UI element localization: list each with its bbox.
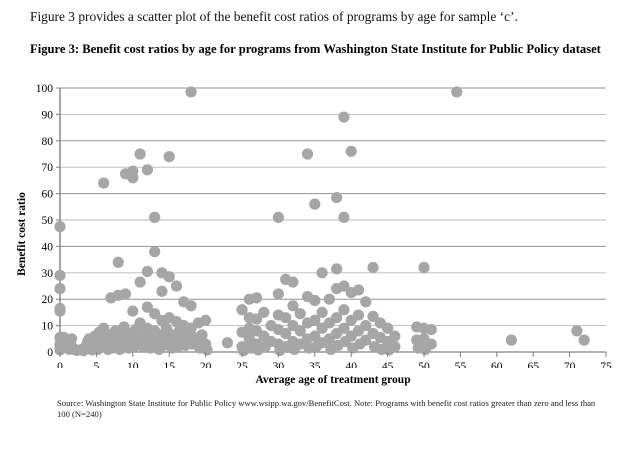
data-point xyxy=(360,296,371,307)
data-point xyxy=(98,177,109,188)
data-point xyxy=(54,270,65,281)
x-tick-label: 60 xyxy=(491,361,503,368)
data-point xyxy=(156,286,167,297)
x-tick-label: 5 xyxy=(94,361,100,368)
x-tick-label: 55 xyxy=(455,361,467,368)
data-point xyxy=(389,341,400,352)
data-point xyxy=(295,308,306,319)
intro-paragraph: Figure 3 provides a scatter plot of the … xyxy=(30,8,610,25)
data-point xyxy=(451,86,462,97)
data-point xyxy=(346,146,357,157)
data-point xyxy=(54,283,65,294)
x-tick-label: 0 xyxy=(57,361,63,368)
data-point xyxy=(309,199,320,210)
y-tick-label: 50 xyxy=(42,215,54,227)
x-tick-label: 30 xyxy=(273,361,285,368)
data-point xyxy=(418,262,429,273)
data-point xyxy=(185,86,196,97)
data-point xyxy=(142,164,153,175)
data-point xyxy=(426,324,437,335)
data-point xyxy=(273,288,284,299)
y-tick-label: 80 xyxy=(42,136,54,148)
data-point xyxy=(127,305,138,316)
data-point xyxy=(120,288,131,299)
data-point xyxy=(113,257,124,268)
document-page: Figure 3 provides a scatter plot of the … xyxy=(0,0,635,449)
data-point xyxy=(251,292,262,303)
plot-canvas: 0102030405060708090100051015202530354045… xyxy=(0,78,635,368)
source-note: Source: Washington State Institute for P… xyxy=(57,398,597,420)
y-tick-label: 10 xyxy=(42,321,54,333)
y-tick-label: 70 xyxy=(42,162,54,174)
y-tick-label: 100 xyxy=(36,83,54,95)
x-tick-label: 25 xyxy=(236,361,248,368)
data-point xyxy=(164,271,175,282)
data-point xyxy=(571,325,582,336)
data-point xyxy=(201,344,212,355)
data-point xyxy=(338,304,349,315)
x-tick-label: 50 xyxy=(418,361,430,368)
data-point xyxy=(367,262,378,273)
data-point xyxy=(324,294,335,305)
data-point xyxy=(149,246,160,257)
data-point xyxy=(258,307,269,318)
y-tick-label: 40 xyxy=(42,241,54,253)
data-point xyxy=(579,335,590,346)
x-axis-label: Average age of treatment group xyxy=(60,374,606,386)
y-tick-label: 0 xyxy=(47,347,53,359)
data-point xyxy=(506,335,517,346)
data-point xyxy=(134,148,145,159)
data-point xyxy=(316,307,327,318)
x-tick-label: 45 xyxy=(382,361,394,368)
data-point xyxy=(287,276,298,287)
data-point xyxy=(426,338,437,349)
data-point xyxy=(316,267,327,278)
data-point xyxy=(222,337,233,348)
scatter-chart: Benefit cost ratio 010203040506070809010… xyxy=(0,78,635,393)
x-tick-label: 75 xyxy=(600,361,612,368)
data-point xyxy=(338,212,349,223)
data-point xyxy=(338,111,349,122)
y-tick-label: 60 xyxy=(42,189,54,201)
data-point xyxy=(200,315,211,326)
data-point xyxy=(134,276,145,287)
data-point xyxy=(273,212,284,223)
data-point xyxy=(389,331,400,342)
data-point xyxy=(309,295,320,306)
data-point xyxy=(149,212,160,223)
data-point xyxy=(164,151,175,162)
y-tick-label: 20 xyxy=(42,294,54,306)
data-point xyxy=(54,221,65,232)
x-tick-label: 20 xyxy=(200,361,212,368)
y-tick-label: 90 xyxy=(42,109,54,121)
figure-title: Figure 3: Benefit cost ratios by age for… xyxy=(30,42,605,58)
data-point xyxy=(185,300,196,311)
data-point xyxy=(353,284,364,295)
data-point xyxy=(302,148,313,159)
data-point xyxy=(142,266,153,277)
x-tick-label: 10 xyxy=(127,361,139,368)
x-tick-label: 15 xyxy=(163,361,175,368)
data-point xyxy=(171,280,182,291)
data-point xyxy=(353,309,364,320)
y-tick-label: 30 xyxy=(42,268,54,280)
x-tick-label: 70 xyxy=(564,361,576,368)
x-tick-label: 35 xyxy=(309,361,321,368)
data-point xyxy=(54,305,65,316)
data-point xyxy=(331,192,342,203)
x-tick-label: 65 xyxy=(527,361,539,368)
data-point xyxy=(127,172,138,183)
x-tick-label: 40 xyxy=(345,361,357,368)
data-point xyxy=(331,263,342,274)
